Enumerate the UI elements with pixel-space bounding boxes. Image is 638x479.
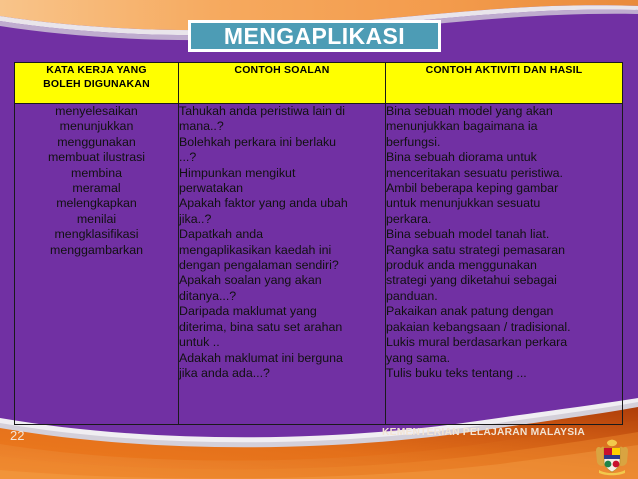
text-line: jika..? (179, 212, 385, 227)
text-line: mengklasifikasi (15, 227, 178, 242)
text-line: membina (15, 166, 178, 181)
text-line: pakaian kebangsaan / tradisional. (386, 320, 622, 335)
content-table: KATA KERJA YANG BOLEH DIGUNAKAN CONTOH S… (14, 62, 623, 425)
text-line: strategi yang diketahui sebagai (386, 273, 622, 288)
text-line: yang sama. (386, 351, 622, 366)
header-line: CONTOH AKTIVITI DAN HASIL (386, 63, 622, 77)
table-header-row: KATA KERJA YANG BOLEH DIGUNAKAN CONTOH S… (15, 63, 623, 104)
page-number: 22 (10, 428, 24, 443)
header-line: CONTOH SOALAN (179, 63, 385, 77)
text-line: jika anda ada...? (179, 366, 385, 381)
slide-canvas: MENGAPLIKASI KATA KERJA YANG BOLEH DIGUN… (0, 0, 638, 479)
cell-verbs: menyelesaikanmenunjukkanmenggunakanmembu… (15, 104, 179, 425)
page-title: MENGAPLIKASI (224, 25, 405, 48)
text-line: menunjukkan bagaimana ia (386, 119, 622, 134)
text-line: untuk menunjukkan sesuatu (386, 196, 622, 211)
column-header-questions: CONTOH SOALAN (179, 63, 386, 104)
text-line: Bolehkah perkara ini berlaku (179, 135, 385, 150)
text-line: Adakah maklumat ini berguna (179, 351, 385, 366)
column-header-activities: CONTOH AKTIVITI DAN HASIL (386, 63, 623, 104)
text-line: Apakah soalan yang akan (179, 273, 385, 288)
text-line: perwatakan (179, 181, 385, 196)
text-line: menunjukkan (15, 119, 178, 134)
text-line: menggunakan (15, 135, 178, 150)
malaysia-coat-of-arms-icon (590, 437, 634, 477)
header-line: BOLEH DIGUNAKAN (15, 77, 178, 91)
text-line: Dapatkah anda (179, 227, 385, 242)
text-line: Himpunkan mengikut (179, 166, 385, 181)
text-line: mana..? (179, 119, 385, 134)
ministry-footer-label: KEMENTERIAN PELAJARAN MALAYSIA (370, 427, 585, 438)
text-line: ditanya...? (179, 289, 385, 304)
text-line: menceritakan sesuatu peristiwa. (386, 166, 622, 181)
text-line: dengan pengalaman sendiri? (179, 258, 385, 273)
text-line: diterima, bina satu set arahan (179, 320, 385, 335)
column-header-verbs: KATA KERJA YANG BOLEH DIGUNAKAN (15, 63, 179, 104)
text-line: Ambil beberapa keping gambar (386, 181, 622, 196)
table-body-row: menyelesaikanmenunjukkanmenggunakanmembu… (15, 104, 623, 425)
text-line: Pakaikan anak patung dengan (386, 304, 622, 319)
content-table-container: KATA KERJA YANG BOLEH DIGUNAKAN CONTOH S… (14, 62, 622, 429)
text-line: melengkapkan (15, 196, 178, 211)
text-line: menggambarkan (15, 243, 178, 258)
text-line: panduan. (386, 289, 622, 304)
text-line: berfungsi. (386, 135, 622, 150)
text-line: Daripada maklumat yang (179, 304, 385, 319)
text-line: Apakah faktor yang anda ubah (179, 196, 385, 211)
text-line: Rangka satu strategi pemasaran (386, 243, 622, 258)
text-line: membuat ilustrasi (15, 150, 178, 165)
slide-title-banner: MENGAPLIKASI (188, 20, 441, 52)
text-line: perkara. (386, 212, 622, 227)
text-line: Bina sebuah model tanah liat. (386, 227, 622, 242)
text-line: Tulis buku teks tentang ... (386, 366, 622, 381)
text-line: menilai (15, 212, 178, 227)
text-line: meramal (15, 181, 178, 196)
text-line: Bina sebuah diorama untuk (386, 150, 622, 165)
text-line: mengaplikasikan kaedah ini (179, 243, 385, 258)
text-line: Bina sebuah model yang akan (386, 104, 622, 119)
text-line: ...? (179, 150, 385, 165)
header-line: KATA KERJA YANG (15, 63, 178, 77)
text-line: untuk .. (179, 335, 385, 350)
text-line: Tahukah anda peristiwa lain di (179, 104, 385, 119)
text-line: Lukis mural berdasarkan perkara (386, 335, 622, 350)
cell-activities: Bina sebuah model yang akanmenunjukkan b… (386, 104, 623, 425)
cell-questions: Tahukah anda peristiwa lain dimana..?Bol… (179, 104, 386, 425)
text-line: produk anda menggunakan (386, 258, 622, 273)
text-line: menyelesaikan (15, 104, 178, 119)
